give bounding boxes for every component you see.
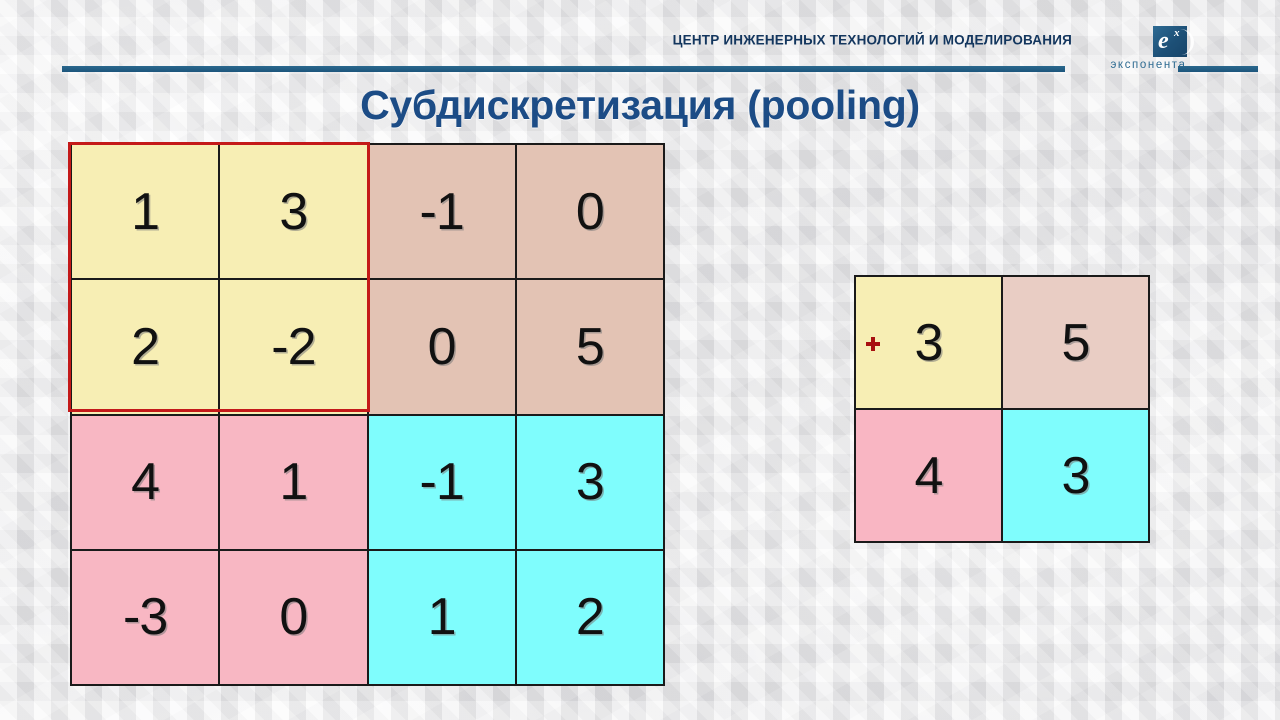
- input-matrix-cell-r2-c1: 1: [220, 416, 366, 549]
- page-title: Субдискретизация (pooling): [0, 82, 1280, 129]
- input-matrix-cell-r1-c1: -2: [220, 280, 366, 413]
- header-rule-left: [62, 66, 1065, 72]
- input-matrix-cell-r0-c2: -1: [369, 145, 515, 278]
- logo-mark-icon: e x: [1153, 26, 1187, 57]
- input-matrix-cell-r3-c2: 1: [369, 551, 515, 684]
- input-matrix-grid: 13-102-20541-13-3012: [70, 143, 665, 686]
- logo-letter-e: e: [1158, 26, 1169, 56]
- output-matrix-grid: 3543: [854, 275, 1150, 543]
- output-matrix-cell-r1-c0: 4: [856, 410, 1001, 541]
- header-rule-right: [1178, 66, 1258, 72]
- input-matrix-cell-r2-c0: 4: [72, 416, 218, 549]
- output-matrix-cell-r0-c1: 5: [1003, 277, 1148, 408]
- input-matrix-cell-r2-c2: -1: [369, 416, 515, 549]
- input-matrix-cell-r3-c1: 0: [220, 551, 366, 684]
- input-matrix-cell-r1-c2: 0: [369, 280, 515, 413]
- input-matrix-cell-r0-c1: 3: [220, 145, 366, 278]
- organization-name: ЦЕНТР ИНЖЕНЕРНЫХ ТЕХНОЛОГИЙ И МОДЕЛИРОВА…: [673, 33, 1072, 48]
- input-matrix-cell-r0-c0: 1: [72, 145, 218, 278]
- input-matrix-cell-r2-c3: 3: [517, 416, 663, 549]
- crosshair-cursor-icon: [866, 337, 880, 351]
- logo-swoosh-icon: [1171, 29, 1194, 55]
- input-matrix-cell-r1-c3: 5: [517, 280, 663, 413]
- input-matrix-cell-r0-c3: 0: [517, 145, 663, 278]
- input-matrix-cell-r3-c3: 2: [517, 551, 663, 684]
- input-matrix-cell-r1-c0: 2: [72, 280, 218, 413]
- output-matrix-cell-r1-c1: 3: [1003, 410, 1148, 541]
- input-matrix-cell-r3-c0: -3: [72, 551, 218, 684]
